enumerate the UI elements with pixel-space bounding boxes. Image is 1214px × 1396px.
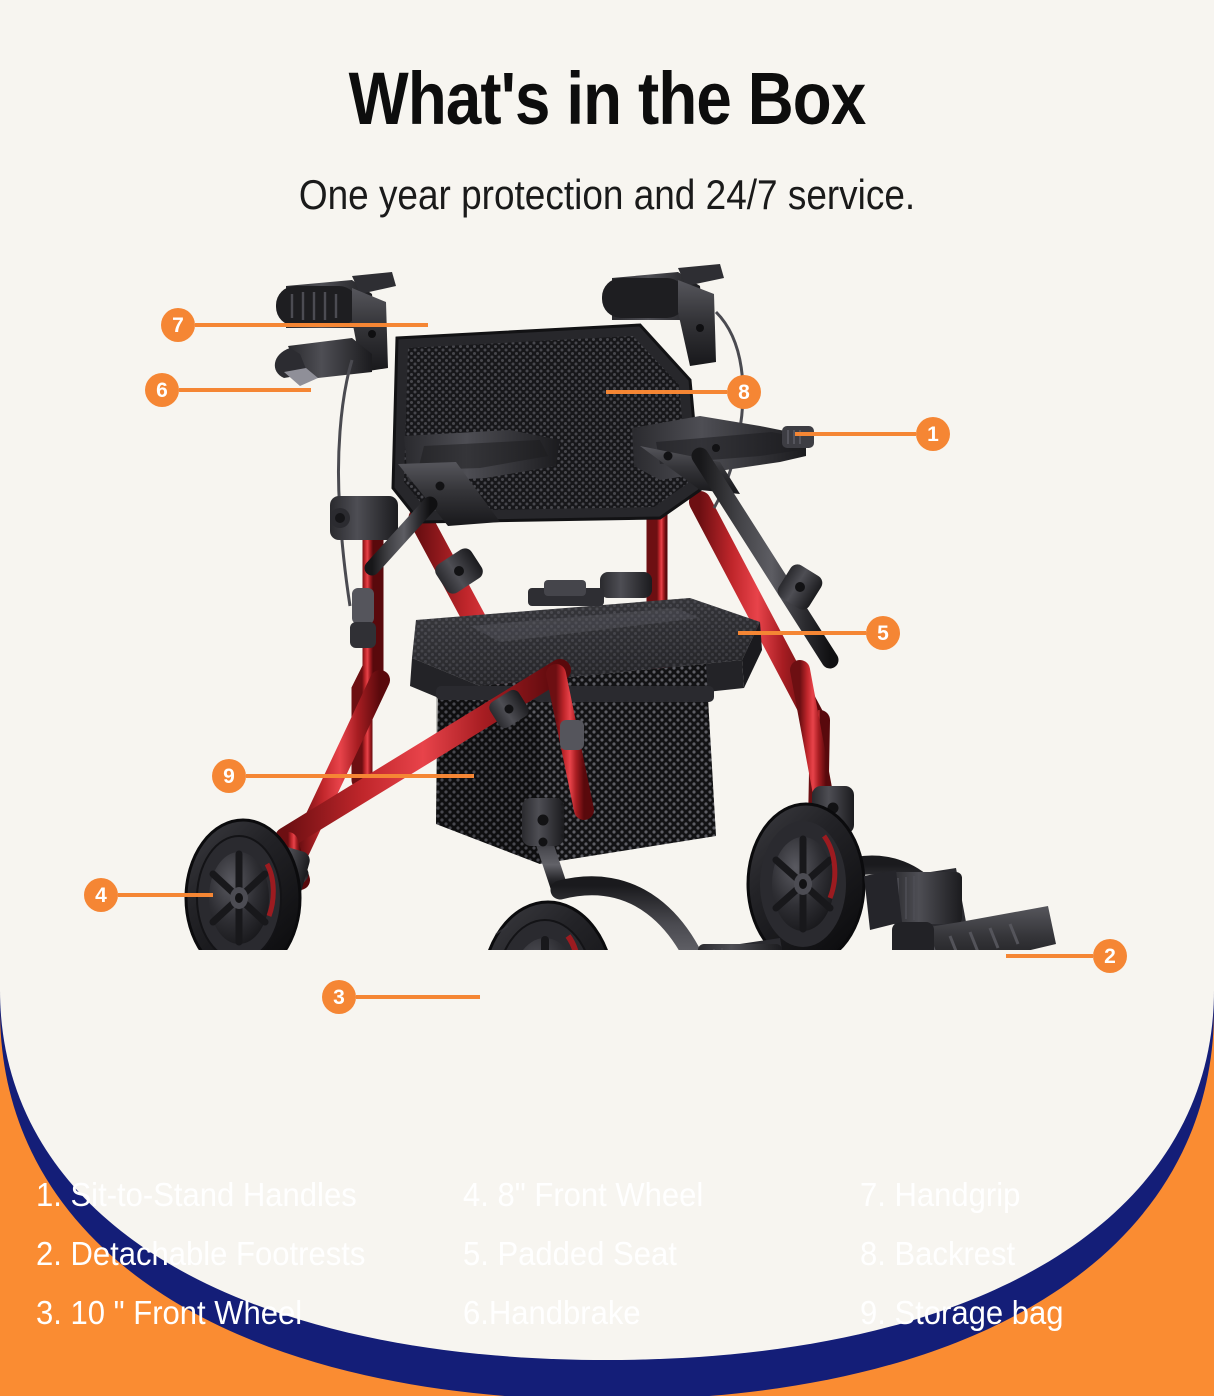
legend-item: 3. 10 " Front Wheel: [36, 1296, 437, 1329]
page-subtitle: One year protection and 24/7 service.: [73, 136, 1141, 216]
legend-item: 7. Handgrip: [860, 1178, 1159, 1211]
legend-item: 4. 8" Front Wheel: [463, 1178, 836, 1211]
legend-item: 9. Storage bag: [860, 1296, 1159, 1329]
page-title: What's in the Box: [85, 0, 1129, 136]
legend-column-2: 4. 8" Front Wheel 5. Padded Seat 6.Handb…: [463, 1178, 860, 1396]
legend-item: 8. Backrest: [860, 1237, 1159, 1270]
product-illustration: [0, 250, 1214, 1070]
legend: 1. Sit-to-Stand Handles 2. Detachable Fo…: [0, 1178, 1214, 1396]
legend-item: 2. Detachable Footrests: [36, 1237, 437, 1270]
legend-item: 1. Sit-to-Stand Handles: [36, 1178, 437, 1211]
infographic-canvas: What's in the Box One year protection an…: [0, 0, 1214, 1396]
legend-column-1: 1. Sit-to-Stand Handles 2. Detachable Fo…: [36, 1178, 463, 1396]
legend-item: 6.Handbrake: [463, 1296, 836, 1329]
legend-column-3: 7. Handgrip 8. Backrest 9. Storage bag: [860, 1178, 1178, 1396]
legend-item: 5. Padded Seat: [463, 1237, 836, 1270]
header: What's in the Box One year protection an…: [0, 0, 1214, 216]
